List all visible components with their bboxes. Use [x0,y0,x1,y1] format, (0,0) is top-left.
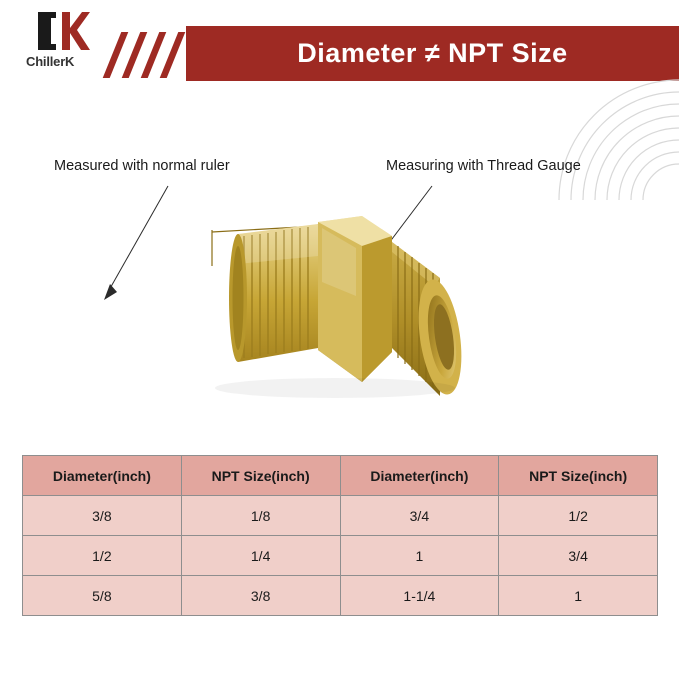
table-cell-r2c2: 1-1/4 [340,576,499,616]
table-cell-r1c1: 1/4 [181,536,340,576]
table-cell-r0c1: 1/8 [181,496,340,536]
chillerk-logo-icon [32,10,90,52]
table-cell-r0c3: 1/2 [499,496,658,536]
fitting-diagram [0,96,679,446]
product-infographic-page: ChillerK Diameter ≠ NPT Size Me [0,0,679,679]
spec-table: Diameter(inch) NPT Size(inch) Diameter(i… [22,455,658,616]
table-cell-r1c3: 3/4 [499,536,658,576]
table-row: 3/8 1/8 3/4 1/2 [23,496,658,536]
table-cell-r2c3: 1 [499,576,658,616]
table-header-cell-2: Diameter(inch) [340,456,499,496]
spec-table-wrapper: Diameter(inch) NPT Size(inch) Diameter(i… [22,455,658,616]
table-cell-r2c0: 5/8 [23,576,182,616]
brand-name: ChillerK [26,54,104,69]
table-header-cell-1: NPT Size(inch) [181,456,340,496]
illustration-area: Measured with normal ruler Measuring wit… [0,96,679,446]
table-cell-r0c2: 3/4 [340,496,499,536]
brand-logo: ChillerK [26,10,104,76]
table-header-cell-0: Diameter(inch) [23,456,182,496]
table-row: 5/8 3/8 1-1/4 1 [23,576,658,616]
table-cell-r1c2: 1 [340,536,499,576]
table-cell-r2c1: 3/8 [181,576,340,616]
page-title: Diameter ≠ NPT Size [186,26,679,81]
header: ChillerK Diameter ≠ NPT Size [0,0,679,96]
table-header-cell-3: NPT Size(inch) [499,456,658,496]
table-cell-r0c0: 3/8 [23,496,182,536]
table-row: 1/2 1/4 1 3/4 [23,536,658,576]
slash-decor-4 [160,32,186,78]
table-header-row: Diameter(inch) NPT Size(inch) Diameter(i… [23,456,658,496]
table-cell-r1c0: 1/2 [23,536,182,576]
